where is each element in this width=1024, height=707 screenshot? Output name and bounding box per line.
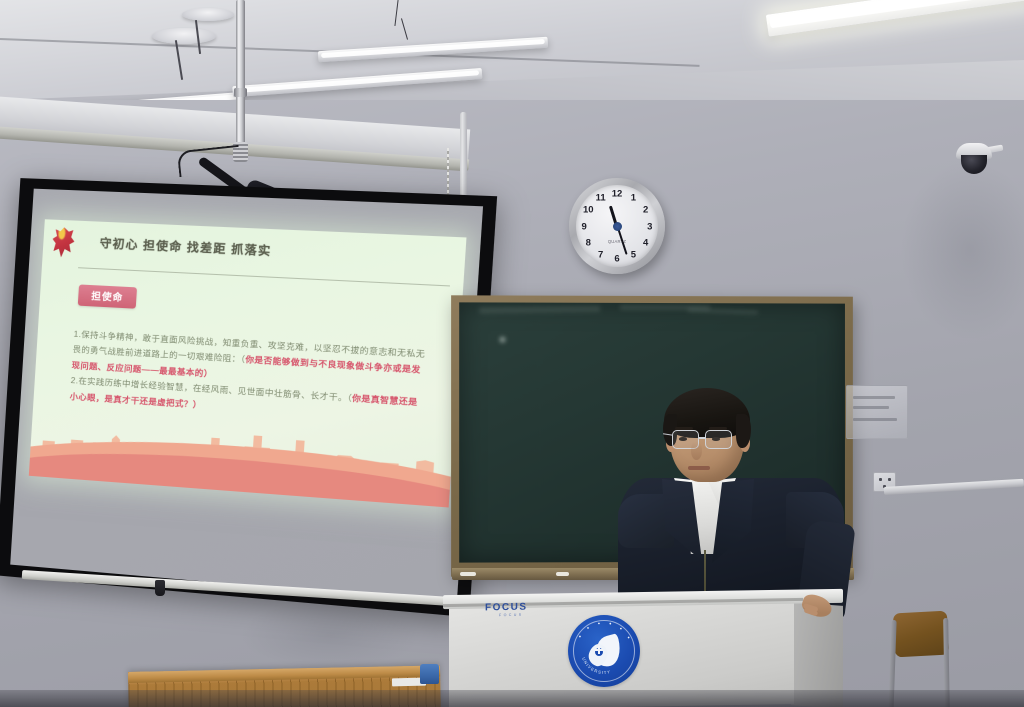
clock-numeral: 4: [643, 238, 648, 249]
projection-screen-surface: 守初心 担使命 找差距 抓落实 担使命 1.保持斗争精神，敢于直面风险挑战，知重…: [10, 189, 483, 604]
slide-section-badge: 担使命: [78, 284, 138, 308]
blackboard-chalk-mark: [500, 337, 506, 343]
slide-body: 1.保持斗争精神，敢于直面风险挑战，知重负重、攻坚克难，以坚忍不拔的意志和无私无…: [69, 327, 437, 429]
emblem-cross-horizontal: [595, 649, 603, 651]
chalk-piece[interactable]: [556, 572, 569, 576]
nose: [691, 442, 702, 460]
focus-brand-sublabel: F O C U S: [499, 613, 522, 617]
clock-numeral: 12: [612, 189, 623, 200]
ceiling-fan-mount: [182, 8, 234, 21]
clock-numeral: 7: [598, 249, 603, 260]
clock-numeral: 2: [643, 205, 648, 216]
slide-title: 守初心 担使命 找差距 抓落实: [99, 235, 272, 259]
wall-plaque: [846, 385, 908, 439]
clock-numeral: 9: [582, 221, 587, 232]
slide-decoration: [45, 220, 82, 266]
screen-pull-knob[interactable]: [155, 580, 165, 596]
emblem-symbol: [587, 636, 621, 668]
floor: [0, 690, 1024, 707]
speaker-person: [612, 382, 850, 614]
plaque-text-line: [853, 406, 889, 409]
ceiling-fan-mount: [152, 28, 216, 44]
wall-clock: 12 1 2 3 4 5 6 7 8 9 10 11 QUARTZ: [569, 178, 665, 274]
security-camera-icon: [956, 143, 1000, 183]
presentation-slide: 守初心 担使命 找差距 抓落实 担使命 1.保持斗争精神，敢于直面风险挑战，知重…: [29, 219, 467, 507]
outlet-socket-hole: [888, 478, 891, 481]
camera-dome: [961, 155, 987, 174]
plaque-text-line: [853, 396, 895, 399]
blue-box-on-desk: [420, 664, 439, 684]
university-emblem-icon: ・・・・・・ UNIVERSITY: [568, 615, 640, 687]
clock-numeral: 8: [586, 238, 591, 249]
slide-body-highlight: 你是真智慧还是: [352, 394, 418, 408]
chair-backrest: [893, 611, 949, 658]
clock-numeral: 1: [631, 193, 636, 204]
projector-pole-joint: [234, 88, 247, 97]
chalk-piece[interactable]: [460, 572, 476, 576]
ribbon-flower-icon: [51, 227, 75, 258]
slide-title-divider: [78, 267, 450, 286]
focus-brand-logo: FOCUS: [485, 602, 528, 614]
clock-numeral: 5: [631, 249, 636, 260]
clock-numeral: 11: [596, 193, 606, 204]
clock-numeral: 3: [647, 221, 652, 232]
mouth: [688, 466, 710, 470]
projection-screen: 守初心 担使命 找差距 抓落实 担使命 1.保持斗争精神，敢于直面风险挑战，知重…: [0, 178, 497, 617]
clock-numeral: 10: [583, 205, 594, 216]
clock-face: 12 1 2 3 4 5 6 7 8 9 10 11 QUARTZ: [576, 185, 658, 267]
clock-center-cap: [613, 222, 622, 231]
blackboard-glare: [688, 308, 758, 315]
outlet-socket-hole: [879, 478, 882, 481]
blackboard-glare: [479, 306, 600, 314]
eyeglasses-bridge: [698, 437, 706, 439]
eyeglasses-lens-right: [705, 430, 732, 449]
projector-mount-pole: [236, 0, 245, 152]
clock-numeral: 6: [614, 253, 619, 264]
classroom-scene: 守初心 担使命 找差距 抓落实 担使命 1.保持斗争精神，敢于直面风险挑战，知重…: [0, 0, 1024, 707]
plaque-text-line: [853, 418, 897, 421]
